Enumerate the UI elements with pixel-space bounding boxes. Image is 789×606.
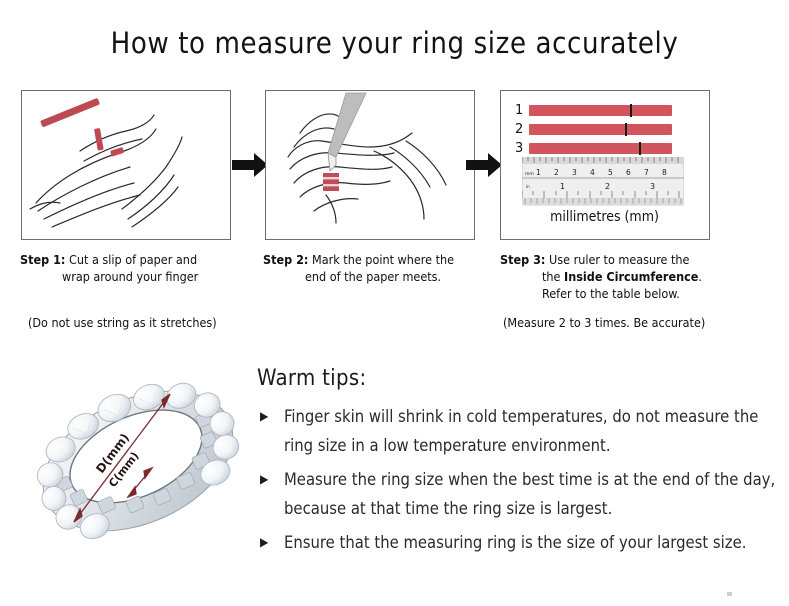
measure-strip-row: 1 bbox=[515, 103, 672, 118]
step-2-line-2: end of the paper meets. bbox=[263, 268, 493, 285]
strip-mark bbox=[639, 142, 641, 155]
step-2-caption: Step 2: Mark the point where the end of … bbox=[263, 251, 493, 285]
bullet-triangle-icon: ▶ bbox=[260, 402, 268, 431]
step-2-illustration-panel bbox=[265, 90, 475, 240]
list-item: ▶ Ensure that the measuring ring is the … bbox=[257, 528, 777, 557]
svg-text:1: 1 bbox=[536, 168, 541, 177]
step-2-line-1: Mark the point where the bbox=[312, 252, 454, 267]
list-item: ▶ Finger skin will shrink in cold temper… bbox=[257, 402, 777, 460]
svg-text:3: 3 bbox=[650, 182, 655, 191]
step-3-line-3: Refer to the table below. bbox=[500, 285, 750, 302]
paper-strip-bar bbox=[529, 124, 672, 135]
arrow-step1-to-step2-icon bbox=[232, 152, 268, 178]
strip-number: 2 bbox=[515, 122, 529, 137]
strip-mark bbox=[630, 104, 632, 117]
paper-strip-bar bbox=[529, 105, 672, 116]
svg-text:2: 2 bbox=[605, 182, 610, 191]
warm-tips-list: ▶ Finger skin will shrink in cold temper… bbox=[257, 402, 777, 562]
step-3-line-2-suffix: . bbox=[698, 269, 702, 284]
step-1-illustration-panel bbox=[21, 90, 231, 240]
ring-diagram: D(mm) C(mm) bbox=[18, 356, 258, 571]
ruler-unit-caption: millimetres (mm) bbox=[501, 209, 708, 225]
strip-number: 3 bbox=[515, 141, 529, 156]
svg-text:mm: mm bbox=[525, 172, 534, 177]
step-1-caption: Step 1: Cut a slip of paper and wrap aro… bbox=[20, 251, 250, 285]
strip-number: 1 bbox=[515, 103, 529, 118]
list-item: ▶ Measure the ring size when the best ti… bbox=[257, 465, 777, 523]
step-3-line-2: the Inside Circumference. bbox=[500, 268, 750, 285]
tip-text: Measure the ring size when the best time… bbox=[284, 470, 775, 518]
svg-text:6: 6 bbox=[626, 168, 631, 177]
svg-text:3: 3 bbox=[572, 168, 577, 177]
step-3-line-1: Use ruler to measure the bbox=[549, 252, 689, 267]
steps-row: 1 2 3 mm bbox=[0, 90, 789, 240]
hand-with-paper-slip-drawing bbox=[22, 91, 229, 238]
paper-strip-bar bbox=[529, 143, 672, 154]
arrow-step2-to-step3-icon bbox=[466, 152, 502, 178]
hand-marking-paper-drawing bbox=[266, 91, 473, 238]
measure-strip-row: 3 bbox=[515, 141, 672, 156]
step-1-note: (Do not use string as it stretches) bbox=[28, 315, 217, 330]
step-3-note: (Measure 2 to 3 times. Be accurate) bbox=[503, 315, 705, 330]
tip-text: Finger skin will shrink in cold temperat… bbox=[284, 407, 758, 455]
svg-text:5: 5 bbox=[608, 168, 613, 177]
step-3-illustration-panel: 1 2 3 mm bbox=[500, 90, 710, 240]
step-3-label: Step 3: bbox=[500, 252, 545, 267]
measure-strip-row: 2 bbox=[515, 122, 672, 137]
step-1-line-1: Cut a slip of paper and bbox=[69, 252, 197, 267]
svg-text:8: 8 bbox=[662, 168, 667, 177]
step-3-inside-circumference-emphasis: Inside Circumference bbox=[564, 269, 698, 284]
svg-text:4: 4 bbox=[590, 168, 595, 177]
eternity-ring-photo: D(mm) C(mm) bbox=[18, 356, 258, 571]
tip-text: Ensure that the measuring ring is the si… bbox=[284, 533, 746, 552]
step-1-line-2: wrap around your finger bbox=[20, 268, 250, 285]
step-1-label: Step 1: bbox=[20, 252, 65, 267]
strip-mark bbox=[625, 123, 627, 136]
bullet-triangle-icon: ▶ bbox=[260, 528, 268, 557]
page-title: How to measure your ring size accurately bbox=[0, 26, 789, 60]
corner-artifact bbox=[727, 592, 732, 596]
ruler-graphic: mm 123 456 78 in 123 bbox=[522, 157, 682, 211]
svg-text:in: in bbox=[526, 184, 530, 189]
step-3-caption: Step 3: Use ruler to measure the the Ins… bbox=[500, 251, 750, 302]
step-2-label: Step 2: bbox=[263, 252, 308, 267]
warm-tips-heading: Warm tips: bbox=[257, 366, 366, 391]
step-3-line-2-prefix: the bbox=[542, 269, 564, 284]
svg-text:2: 2 bbox=[554, 168, 559, 177]
svg-text:7: 7 bbox=[644, 168, 649, 177]
svg-text:1: 1 bbox=[560, 182, 565, 191]
bullet-triangle-icon: ▶ bbox=[260, 465, 268, 494]
